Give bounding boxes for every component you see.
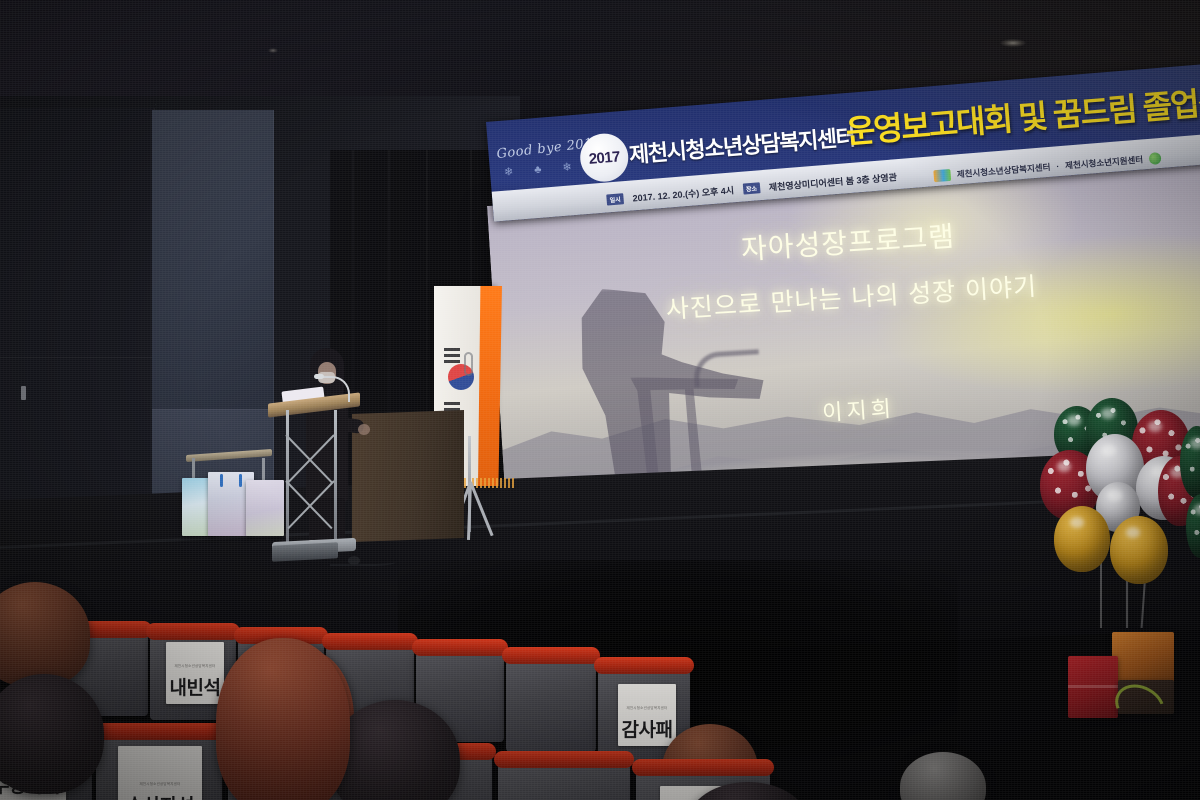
audience-head [216, 638, 350, 800]
seat-headrest [594, 657, 694, 674]
bag-handle [220, 474, 223, 487]
place-chip-icon: 장소 [742, 182, 760, 194]
microphone-shadow [693, 349, 761, 387]
lectern-leg [334, 410, 337, 542]
wall-hook-icon [464, 352, 473, 376]
seat-sign: 제천시청소년상담복지센터 감사패 [618, 684, 676, 746]
trigram-icon [444, 402, 460, 405]
wall-panel-lit [152, 110, 274, 410]
flag-orange-stripe [478, 286, 502, 486]
audience-seating: 제천시청소년상담복지센터 내빈석 제천시청소년상담복지센터 감사패 [0, 556, 1200, 800]
seat-headrest [494, 751, 634, 768]
sign-label: 수상자석 [126, 791, 194, 800]
ceiling-downlight [1000, 39, 1026, 47]
banner-year-text: 2017 [588, 148, 620, 167]
sign-subtext: 제천시청소년상담복지센터 [626, 706, 667, 711]
seat-headrest [322, 633, 418, 650]
seat-headrest [502, 647, 600, 664]
trigram-icon [444, 360, 460, 363]
date-chip-icon: 일시 [606, 193, 624, 205]
trigram-icon [444, 348, 460, 351]
audience-head [0, 582, 90, 686]
wall-panel-lit [274, 118, 275, 119]
microphone-icon [314, 374, 324, 379]
leaf-logo-icon [1149, 152, 1162, 165]
seat: 제천시청소년상담복지센터 수상자석 [96, 732, 222, 800]
ceiling-downlight [268, 48, 278, 53]
seat-headrest [632, 759, 774, 776]
trigram-icon [444, 354, 460, 357]
tripod-leg [469, 482, 493, 537]
sign-label: 내빈석 [170, 673, 221, 700]
seat-sign: 제천시청소년상담복지센터 내빈석 [166, 642, 224, 704]
wall-panel [0, 108, 155, 358]
sponsor-logo-icon [933, 169, 951, 182]
sponsor-separator: · [1056, 161, 1060, 171]
seat-headrest [146, 623, 240, 640]
audience-head [900, 752, 986, 800]
light-switch[interactable] [21, 386, 26, 400]
seat [498, 760, 630, 800]
seat-sign: 제천시청소년상담복지센터 수상자석 [118, 746, 202, 800]
seat [506, 656, 596, 752]
bag-handle [239, 474, 242, 487]
sign-subtext: 제천시청소년상담복지센터 [139, 782, 180, 787]
seat-headrest [92, 723, 226, 740]
lectern-lattice [286, 434, 334, 530]
auditorium-photo: 자아성장프로그램 사진으로 만나는 나의 성장 이야기 이지희 Good bye… [0, 0, 1200, 800]
seat-headrest [412, 639, 508, 656]
lectern [268, 398, 360, 558]
sign-subtext: 제천시청소년상담복지센터 [174, 664, 215, 669]
sign-label: 감사패 [622, 715, 673, 742]
wall-panel [155, 104, 156, 105]
